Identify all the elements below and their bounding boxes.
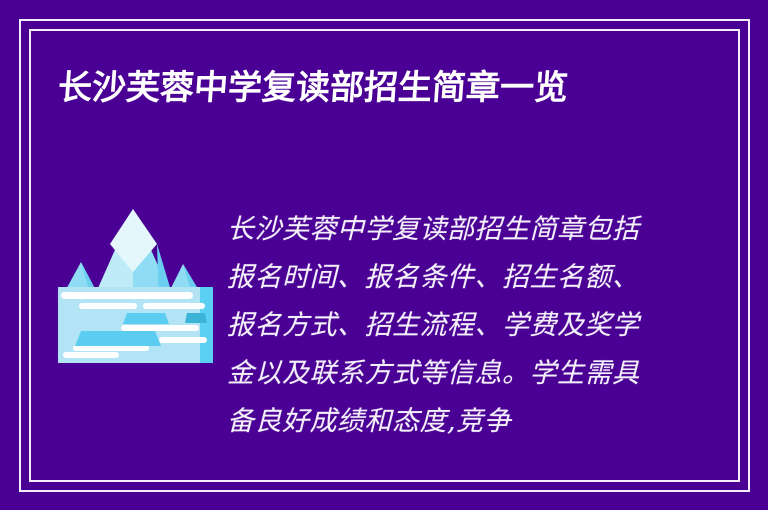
poster-canvas: 长沙芙蓉中学复读部招生简章一览 [0, 0, 768, 510]
iceberg-illustration [55, 200, 213, 368]
body-paragraph: 长沙芙蓉中学复读部招生简章包括报名时间、报名条件、招生名额、报名方式、招生流程、… [227, 206, 651, 488]
page-title: 长沙芙蓉中学复读部招生简章一览 [56, 62, 620, 114]
